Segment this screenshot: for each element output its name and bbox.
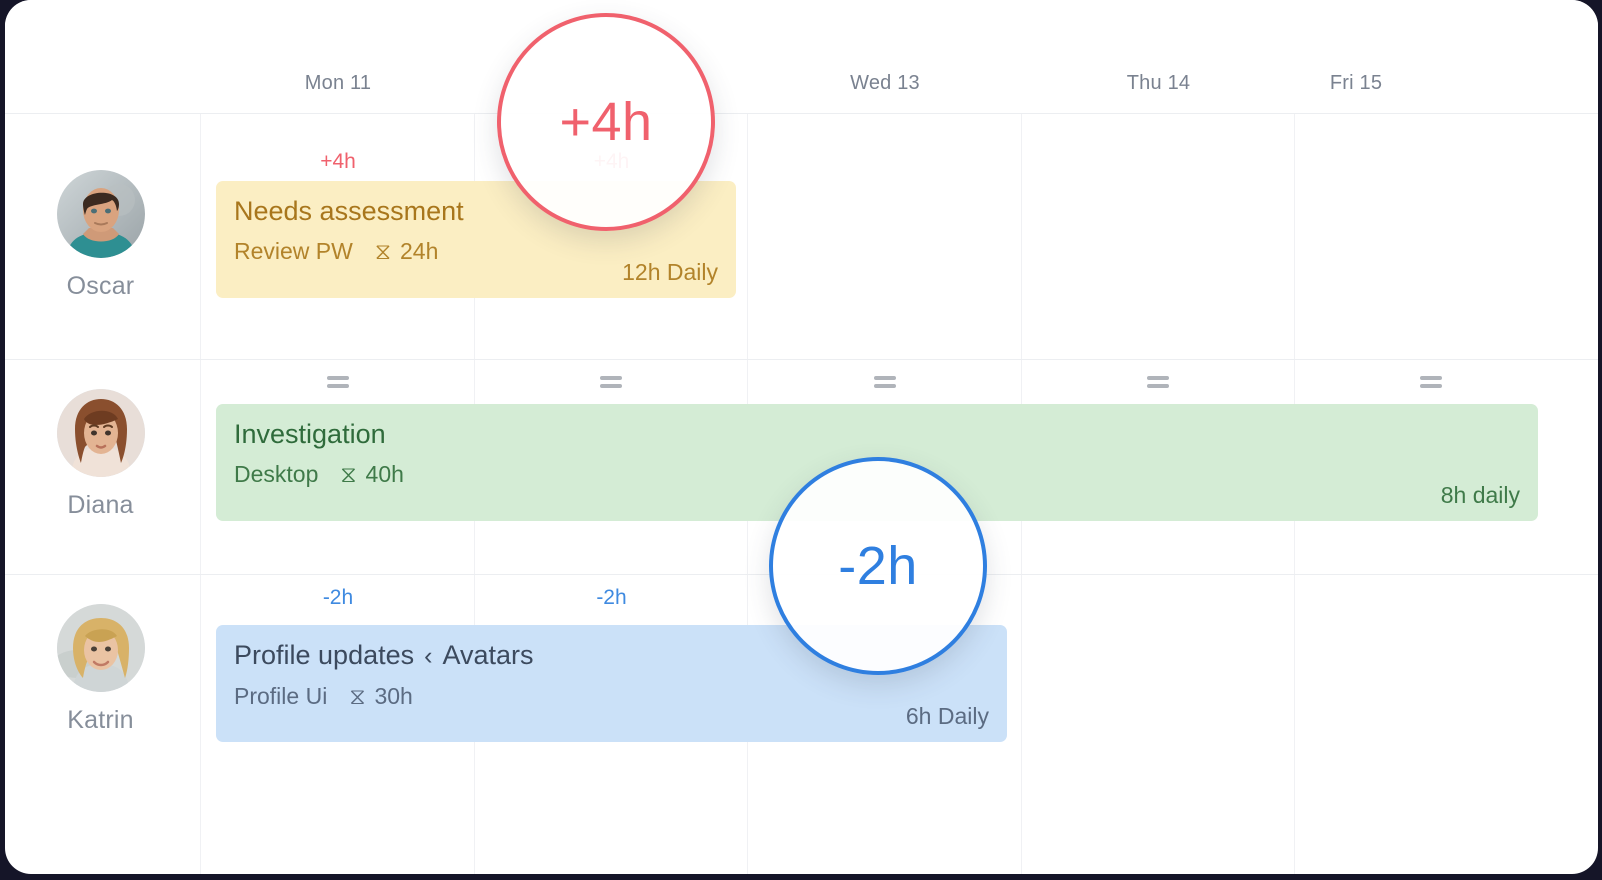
task-daily-rate: 12h Daily bbox=[622, 259, 718, 286]
badge-label: +4h bbox=[559, 91, 652, 153]
delta-marker-equal bbox=[600, 376, 622, 388]
task-title-text: Profile updates bbox=[234, 640, 414, 670]
avatar bbox=[57, 170, 145, 258]
task-daily-rate: 8h daily bbox=[1441, 482, 1520, 509]
delta-marker-equal bbox=[1147, 376, 1169, 388]
grid-row-divider bbox=[5, 359, 1598, 360]
day-header-thu[interactable]: Thu 14 bbox=[1022, 72, 1295, 95]
scheduler-card: Mon 11 Tue 12 Wed 13 Thu 14 Fri 15 bbox=[5, 0, 1598, 874]
task-estimate: 40h bbox=[366, 460, 404, 488]
task-estimate: 30h bbox=[374, 682, 412, 710]
task-title: Investigation bbox=[234, 418, 1520, 450]
person-diana[interactable]: Diana bbox=[5, 389, 196, 520]
hourglass-icon: ⧖ bbox=[375, 240, 391, 263]
hourglass-icon: ⧖ bbox=[349, 685, 365, 708]
task-project: Desktop bbox=[234, 460, 318, 488]
delta-marker-under: -2h bbox=[201, 586, 475, 610]
badge-label: -2h bbox=[838, 535, 918, 597]
task-daily-rate: 6h Daily bbox=[906, 703, 989, 730]
badge-underallocated[interactable]: -2h bbox=[769, 457, 987, 675]
person-name: Oscar bbox=[5, 272, 196, 301]
delta-marker-equal bbox=[1420, 376, 1442, 388]
person-katrin[interactable]: Katrin bbox=[5, 604, 196, 735]
delta-marker-equal bbox=[327, 376, 349, 388]
day-header-wed[interactable]: Wed 13 bbox=[748, 72, 1022, 95]
task-meta: Profile Ui ⧖ 30h bbox=[234, 682, 989, 710]
task-project: Profile Ui bbox=[234, 682, 327, 710]
day-header-mon[interactable]: Mon 11 bbox=[201, 72, 475, 95]
hourglass-icon: ⧖ bbox=[340, 463, 356, 486]
person-name: Diana bbox=[5, 491, 196, 520]
calendar-header: Mon 11 Tue 12 Wed 13 Thu 14 Fri 15 bbox=[5, 0, 1598, 114]
avatar bbox=[57, 389, 145, 477]
badge-overallocated[interactable]: +4h bbox=[497, 13, 715, 231]
grid-column-divider bbox=[200, 114, 201, 874]
window-frame: Mon 11 Tue 12 Wed 13 Thu 14 Fri 15 bbox=[0, 0, 1602, 880]
person-name: Katrin bbox=[5, 706, 196, 735]
chevron-left-icon: ‹ bbox=[424, 642, 432, 670]
delta-marker-under: -2h bbox=[475, 586, 748, 610]
avatar bbox=[57, 604, 145, 692]
delta-marker-equal bbox=[874, 376, 896, 388]
task-subtitle-text: Avatars bbox=[442, 640, 533, 670]
task-estimate: 24h bbox=[400, 237, 438, 265]
person-oscar[interactable]: Oscar bbox=[5, 170, 196, 301]
delta-marker-over: +4h bbox=[201, 150, 475, 174]
task-project: Review PW bbox=[234, 237, 353, 265]
day-header-fri[interactable]: Fri 15 bbox=[1295, 72, 1417, 95]
